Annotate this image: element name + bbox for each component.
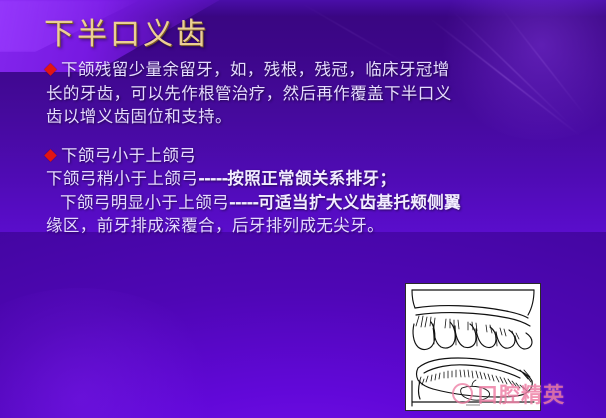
paragraph-2-line-1-normal: 下颌弓稍小于上颌弓	[46, 169, 198, 188]
bullet-paragraph-1: 下颌残留少量余留牙，如，残根，残冠，临床牙冠增 长的牙齿，可以先作根管治疗，然后…	[46, 58, 574, 129]
paragraph-2-heading-text: 下颌弓小于上颌弓	[61, 146, 196, 165]
paragraph-2-line-3: 缘区，前牙排成深覆合，后牙排列成无尖牙。	[46, 214, 574, 238]
paragraph-1-line-2: 长的牙齿，可以先作根管治疗，然后再作覆盖下半口义	[46, 82, 574, 106]
paragraph-2-line-1-dashes: -----	[198, 169, 227, 188]
paragraph-2-heading: 下颌弓小于上颌弓	[46, 144, 574, 168]
paragraph-1-line-1-text: 下颌残留少量余留牙，如，残根，残冠，临床牙冠增	[61, 60, 450, 79]
paragraph-2-line-1-strong: 按照正常颌关系排牙；	[227, 169, 396, 188]
paragraph-2-line-2-dashes: -----	[229, 193, 258, 212]
paragraph-2-line-2: 下颌弓明显小于上颌弓-----可适当扩大义齿基托颊侧翼	[46, 191, 574, 215]
paragraph-1-line-3: 齿以增义齿固位和支持。	[46, 105, 574, 129]
bullet-paragraph-2: 下颌弓小于上颌弓 下颌弓稍小于上颌弓-----按照正常颌关系排牙； 下颌弓明显小…	[46, 144, 574, 238]
dental-arch-illustration	[405, 283, 541, 411]
paragraph-1-line-1: 下颌残留少量余留牙，如，残根，残冠，临床牙冠增	[46, 58, 574, 82]
slide-body: 下颌残留少量余留牙，如，残根，残冠，临床牙冠增 长的牙齿，可以先作根管治疗，然后…	[46, 58, 574, 238]
slide-title: 下半口义齿	[44, 18, 209, 52]
red-diamond-icon	[44, 63, 57, 76]
paragraph-2-line-2-strong: 可适当扩大义齿基托颊侧翼	[258, 193, 461, 212]
dental-arch-drawing	[406, 284, 540, 410]
red-diamond-icon	[44, 149, 57, 162]
paragraph-2-line-1: 下颌弓稍小于上颌弓-----按照正常颌关系排牙；	[46, 167, 574, 191]
presentation-slide: 下半口义齿 下颌残留少量余留牙，如，残根，残冠，临床牙冠增 长的牙齿，可以先作根…	[0, 0, 606, 418]
paragraph-2-line-2-normal: 下颌弓明显小于上颌弓	[60, 193, 229, 212]
